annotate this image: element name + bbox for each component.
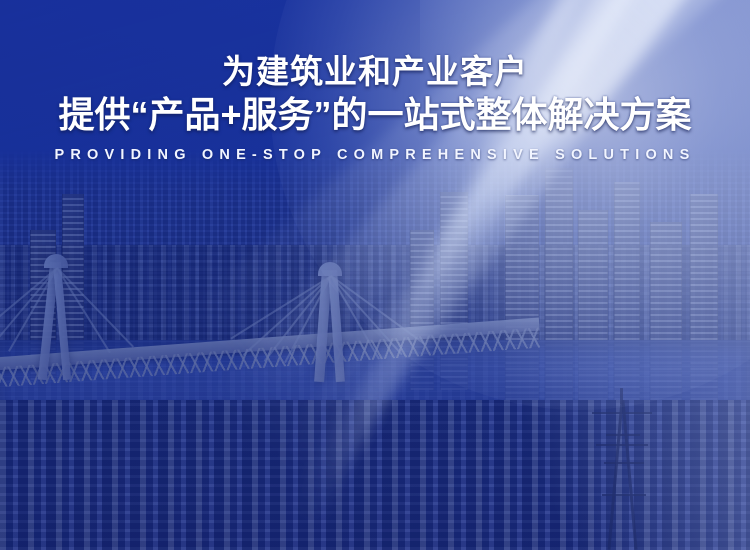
banner-text-block: 为建筑业和产业客户 提供“产品+服务”的一站式整体解决方案 PROVIDING … — [0, 50, 750, 163]
tower-brace — [606, 434, 640, 436]
headline-line-2: 提供“产品+服务”的一站式整体解决方案 — [0, 93, 750, 136]
tower-leg — [621, 400, 637, 550]
tower-brace — [602, 494, 646, 496]
cityscape-photo — [0, 150, 750, 550]
transmission-tower — [590, 400, 654, 550]
headline-line-1: 为建筑业和产业客户 — [0, 50, 750, 93]
tower-leg — [607, 400, 623, 550]
tower-top — [620, 388, 623, 404]
tower-brace — [604, 462, 644, 464]
banner-subtitle: PROVIDING ONE-STOP COMPREHENSIVE SOLUTIO… — [0, 147, 750, 163]
hero-banner: 为建筑业和产业客户 提供“产品+服务”的一站式整体解决方案 PROVIDING … — [0, 0, 750, 550]
tower-crossarm — [596, 444, 648, 446]
tower-crossarm — [592, 412, 652, 414]
